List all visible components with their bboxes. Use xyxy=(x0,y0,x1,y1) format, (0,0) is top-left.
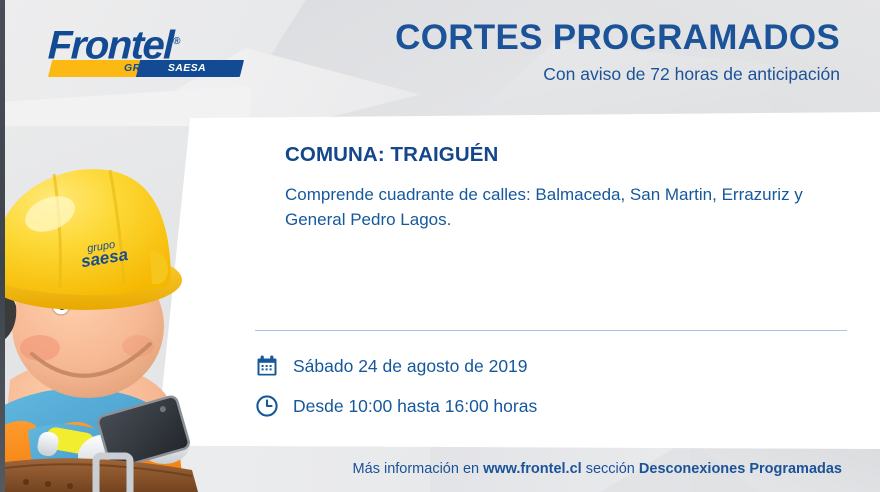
left-edge-strip xyxy=(0,0,5,492)
schedule-date-text: Sábado 24 de agosto de 2019 xyxy=(293,354,528,378)
footer-info-text: Más información en www.frontel.cl secció… xyxy=(353,461,842,477)
schedule-info-list: Sábado 24 de agosto de 2019 Desde 10:00 … xyxy=(255,346,815,426)
logo-wordmark: Frontel® xyxy=(47,22,245,65)
schedule-time-row: Desde 10:00 hasta 16:00 horas xyxy=(255,386,815,426)
logo-registered-mark: ® xyxy=(173,36,181,47)
header-title-block: CORTES PROGRAMADOS Con aviso de 72 horas… xyxy=(395,18,840,85)
clock-icon xyxy=(255,394,293,418)
poster-header: GRUPO SAESA Frontel® CORTES PROGRAMADOS … xyxy=(0,0,880,118)
content-card: COMUNA: TRAIGUÉN Comprende cuadrante de … xyxy=(150,112,880,449)
footer-section: Desconexiones Programadas xyxy=(639,461,842,477)
calendar-icon xyxy=(255,354,293,378)
page-subtitle: Con aviso de 72 horas de anticipación xyxy=(395,63,840,85)
worker-mascot-illustration: grupo saesa xyxy=(0,130,227,492)
card-text-block: COMUNA: TRAIGUÉN Comprende cuadrante de … xyxy=(285,142,860,232)
footer-prefix: Más información en xyxy=(353,461,484,477)
schedule-time-text: Desde 10:00 hasta 16:00 horas xyxy=(293,394,537,418)
affected-streets-description: Comprende cuadrante de calles: Balmaceda… xyxy=(285,182,805,232)
frontel-logo: GRUPO SAESA Frontel® xyxy=(48,22,244,78)
footer-website[interactable]: www.frontel.cl xyxy=(483,461,582,477)
card-divider xyxy=(255,330,847,331)
logo-wordmark-text: Frontel xyxy=(47,23,174,67)
comuna-heading: COMUNA: TRAIGUÉN xyxy=(285,142,860,168)
schedule-date-row: Sábado 24 de agosto de 2019 xyxy=(255,346,815,386)
outage-notice-poster: GRUPO SAESA Frontel® CORTES PROGRAMADOS … xyxy=(0,0,880,492)
page-title: CORTES PROGRAMADOS xyxy=(395,18,840,58)
footer-middle: sección xyxy=(582,461,639,477)
